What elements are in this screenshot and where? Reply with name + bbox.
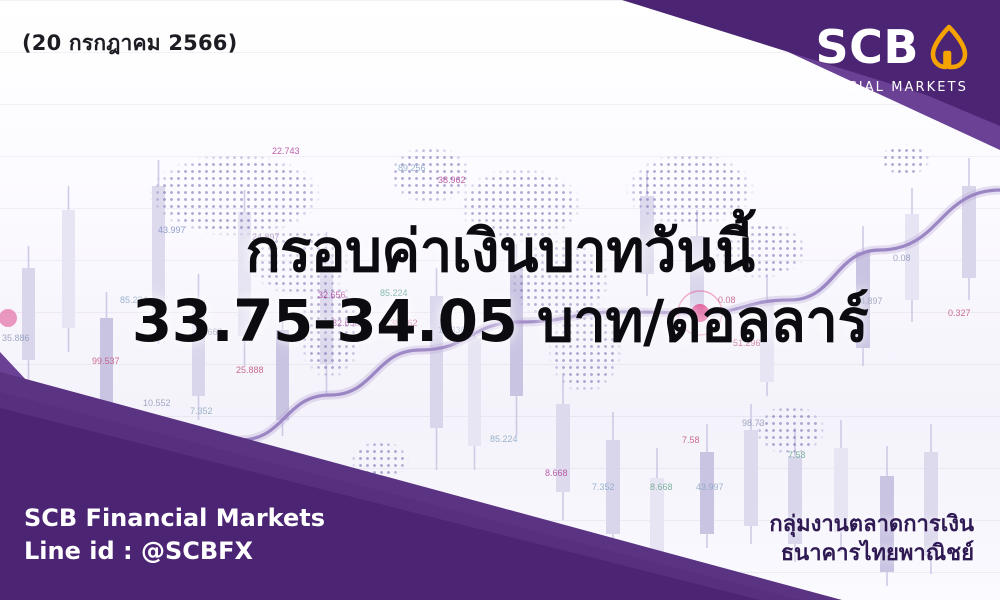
footer-org-name: SCB Financial Markets [24,502,325,535]
logo-subtitle: FINANCIAL MARKETS [797,80,970,95]
logo-row: SCB [797,24,970,70]
logo-wordmark: SCB [816,24,919,70]
footer-department-line-1: กลุ่มงานตลาดการเงิน [769,510,974,539]
footer-contact: SCB Financial Markets Line id : @SCBFX [24,502,325,568]
footer-department-line-2: ธนาคารไทยพาณิชย์ [769,539,974,568]
footer-line-id: Line id : @SCBFX [24,535,325,568]
scb-logo: SCB FINANCIAL MARKETS [797,24,970,95]
poster-canvas: 22.74343.99724.89785.22432.65689.25638.9… [0,0,1000,600]
footer-department: กลุ่มงานตลาดการเงิน ธนาคารไทยพาณิชย์ [769,510,974,568]
scb-leaf-icon [928,24,970,70]
